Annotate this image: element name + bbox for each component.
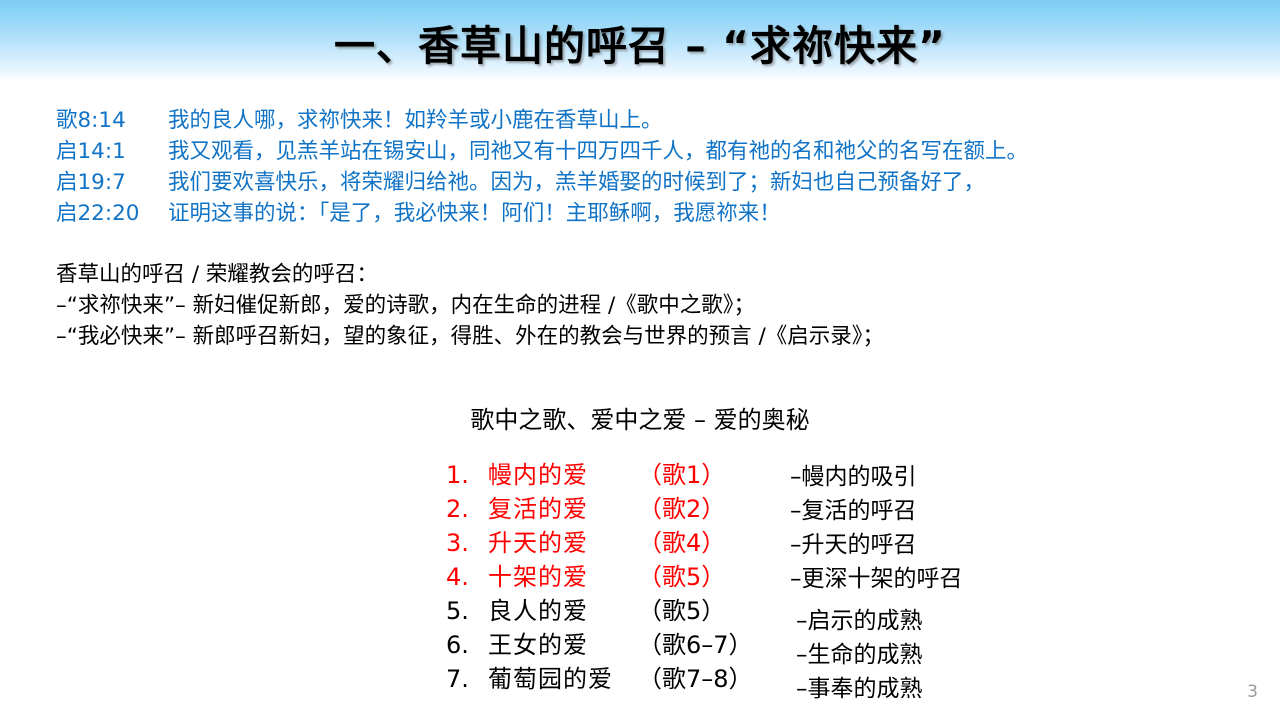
body-text-block: 香草山的呼召 / 荣耀教会的呼召：–“求祢快来”– 新妇催促新郎，爱的诗歌，内在…	[56, 259, 1256, 352]
list-item-name: 葡萄园的爱	[488, 659, 638, 694]
scripture-line: 启14:1我又观看，见羔羊站在锡安山，同祂又有十四万四千人，都有祂的名和祂父的名…	[56, 136, 1256, 167]
scripture-verse-text: 证明这事的说：「是了，我必快来！阿们！主耶稣啊，我愿祢来！	[168, 201, 781, 226]
list-item-reference: （歌7–8）	[638, 659, 768, 694]
love-list: 1.幔内的爱（歌1）–幔内的吸引2.复活的爱（歌2）–复活的呼召3.升天的爱（歌…	[446, 455, 1006, 693]
list-item-number: 3.	[446, 529, 488, 557]
list-item-annotation: –复活的呼召	[790, 491, 917, 525]
scripture-verse-text: 我们要欢喜快乐，将荣耀归给祂。因为，羔羊婚娶的时候到了；新妇也自己预备好了，	[168, 170, 985, 195]
list-item-annotation: –更深十架的呼召	[790, 559, 963, 593]
scripture-line: 启19:7我们要欢喜快乐，将荣耀归给祂。因为，羔羊婚娶的时候到了；新妇也自己预备…	[56, 167, 1256, 198]
list-item-annotation: –升天的呼召	[790, 525, 917, 559]
body-line: –“我必快来”– 新郎呼召新妇，望的象征，得胜、外在的教会与世界的预言 /《启示…	[56, 321, 1256, 352]
scripture-reference: 启19:7	[56, 167, 168, 198]
scripture-verse-text: 我又观看，见羔羊站在锡安山，同祂又有十四万四千人，都有祂的名和祂父的名写在额上。	[168, 139, 1028, 164]
list-item-number: 2.	[446, 495, 488, 523]
list-item: 2.复活的爱（歌2）	[446, 489, 1006, 523]
list-item-reference: （歌2）	[638, 489, 768, 524]
list-item-number: 7.	[446, 665, 488, 693]
scripture-verse-text: 我的良人哪，求祢快来！如羚羊或小鹿在香草山上。	[168, 108, 663, 133]
list-item-reference: （歌1）	[638, 455, 768, 490]
scripture-line: 歌8:14我的良人哪，求祢快来！如羚羊或小鹿在香草山上。	[56, 105, 1256, 136]
list-item-name: 良人的爱	[488, 591, 638, 626]
scripture-reference: 歌8:14	[56, 105, 168, 136]
scripture-line: 启22:20证明这事的说：「是了，我必快来！阿们！主耶稣啊，我愿祢来！	[56, 198, 1256, 229]
list-item-number: 4.	[446, 563, 488, 591]
page-number: 3	[1247, 682, 1258, 702]
list-item: 1.幔内的爱（歌1）	[446, 455, 1006, 489]
list-item-number: 1.	[446, 461, 488, 489]
page-title: 一、香草山的呼召 – “求祢快来”	[0, 12, 1280, 72]
list-item-annotation: –幔内的吸引	[790, 457, 917, 491]
list-item-name: 十架的爱	[488, 557, 638, 592]
body-line: –“求祢快来”– 新妇催促新郎，爱的诗歌，内在生命的进程 /《歌中之歌》；	[56, 290, 1256, 321]
scripture-block: 歌8:14我的良人哪，求祢快来！如羚羊或小鹿在香草山上。启14:1我又观看，见羔…	[56, 105, 1256, 229]
list-item-reference: （歌5）	[638, 557, 768, 592]
list-item-annotation: –事奉的成熟	[796, 669, 923, 703]
list-item-name: 升天的爱	[488, 523, 638, 558]
list-item-name: 复活的爱	[488, 489, 638, 524]
scripture-reference: 启14:1	[56, 136, 168, 167]
slide-root: 一、香草山的呼召 – “求祢快来” 歌8:14我的良人哪，求祢快来！如羚羊或小鹿…	[0, 0, 1280, 720]
list-item-name: 幔内的爱	[488, 455, 638, 490]
subheading: 歌中之歌、爱中之爱 – 爱的奥秘	[0, 400, 1280, 435]
body-line: 香草山的呼召 / 荣耀教会的呼召：	[56, 259, 1256, 290]
list-item: 3.升天的爱（歌4）	[446, 523, 1006, 557]
list-item-name: 王女的爱	[488, 625, 638, 660]
list-item-number: 5.	[446, 597, 488, 625]
list-item-reference: （歌5）	[638, 591, 768, 626]
list-item-reference: （歌6–7）	[638, 625, 768, 660]
list-item-number: 6.	[446, 631, 488, 659]
scripture-reference: 启22:20	[56, 198, 168, 229]
list-item-reference: （歌4）	[638, 523, 768, 558]
